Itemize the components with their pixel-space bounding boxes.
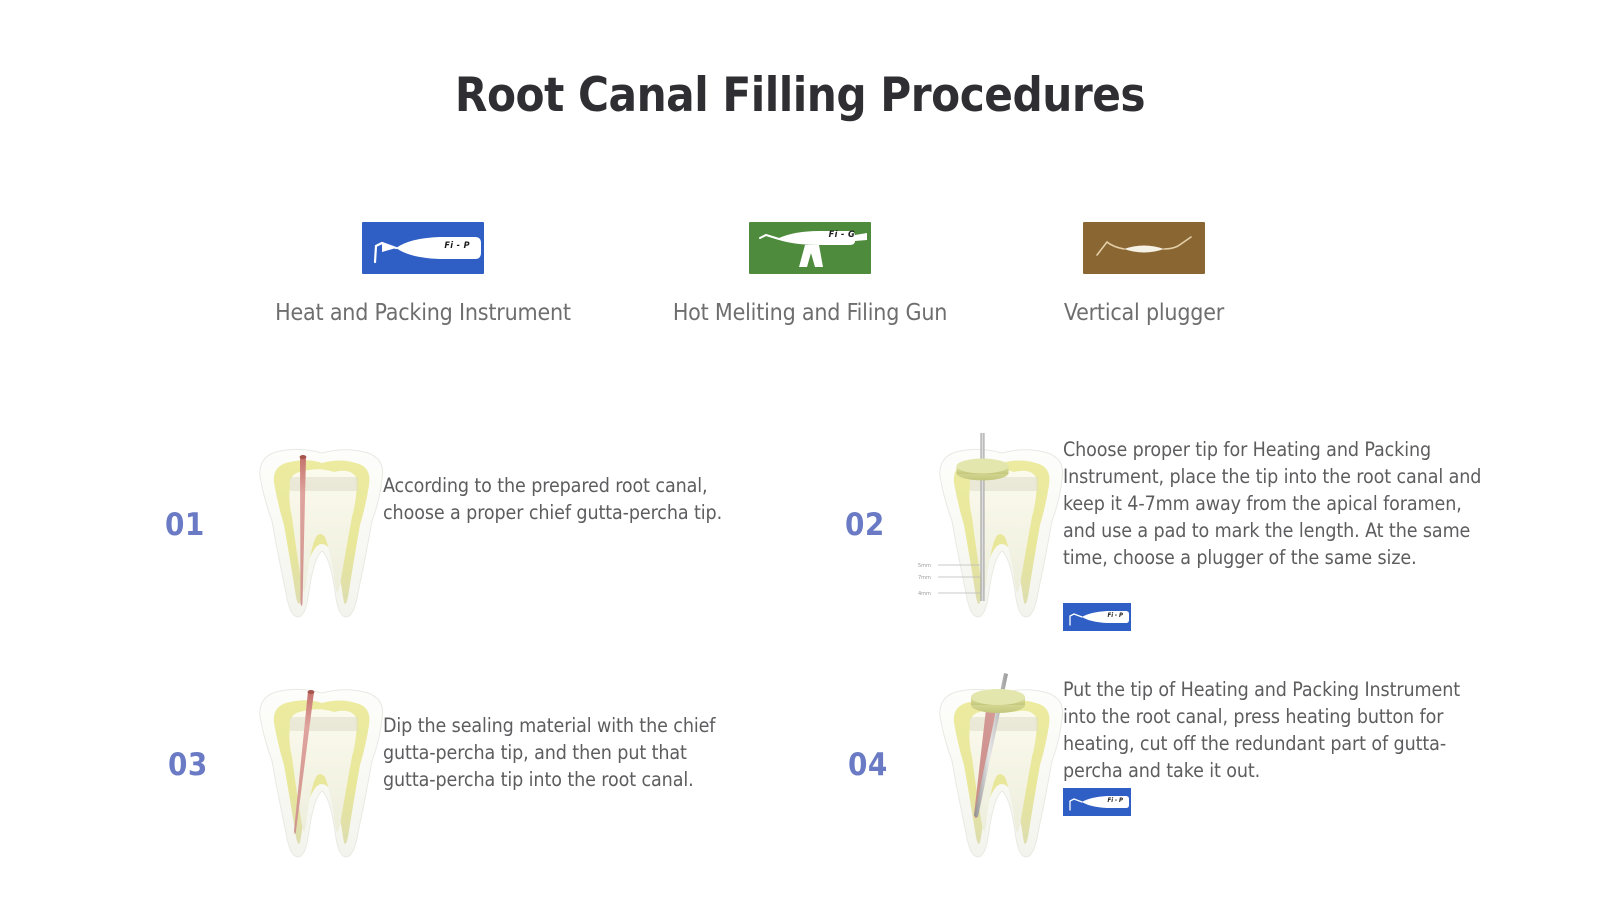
plugger-tile — [1083, 222, 1205, 274]
legend-caption-2: Vertical plugger — [1000, 300, 1288, 326]
legend-item-heat-packing-instrument: Fi - P Heat and Packing Instrument — [243, 222, 603, 326]
step-description: Dip the sealing material with the chief … — [383, 713, 743, 794]
svg-text:7mm: 7mm — [918, 575, 931, 581]
step-description: Put the tip of Heating and Packing Instr… — [1063, 677, 1488, 785]
legend-caption-1: Hot Meliting and Filing Gun — [640, 300, 980, 326]
step-number: 04 — [848, 747, 888, 783]
page-title: Root Canal Filling Procedures — [0, 68, 1600, 123]
svg-text:4mm: 4mm — [918, 591, 931, 597]
filling-gun-tile-label: Fi - G — [829, 230, 855, 240]
step-badge-label: Fi - P — [1108, 797, 1124, 804]
step-badge-label: Fi - P — [1108, 612, 1124, 619]
step-description: According to the prepared root canal, ch… — [383, 473, 763, 527]
filling-gun-tile: Fi - G — [749, 222, 871, 274]
step-badge-handpiece: Fi - P — [1063, 603, 1131, 631]
step-number: 02 — [845, 507, 885, 543]
step-description: Choose proper tip for Heating and Packin… — [1063, 437, 1483, 572]
legend-item-filling-gun: Fi - G Hot Meliting and Filing Gun — [640, 222, 980, 326]
procedure-steps: 01 — [0, 420, 1600, 880]
root-canal-procedures-page: Root Canal Filling Procedures Fi - P Hea… — [0, 0, 1600, 902]
plugger-icon — [1083, 222, 1205, 274]
step-badge-handpiece: Fi - P — [1063, 788, 1131, 816]
legend-caption-0: Heat and Packing Instrument — [243, 300, 603, 326]
svg-text:5mm: 5mm — [918, 563, 931, 569]
step-number: 01 — [165, 507, 205, 543]
handpiece-tile: Fi - P — [362, 222, 484, 274]
instrument-legend: Fi - P Heat and Packing Instrument Fi - … — [0, 222, 1600, 352]
handpiece-tile-label: Fi - P — [444, 241, 470, 251]
step-number: 03 — [168, 747, 208, 783]
legend-item-vertical-plugger: Vertical plugger — [1000, 222, 1288, 326]
